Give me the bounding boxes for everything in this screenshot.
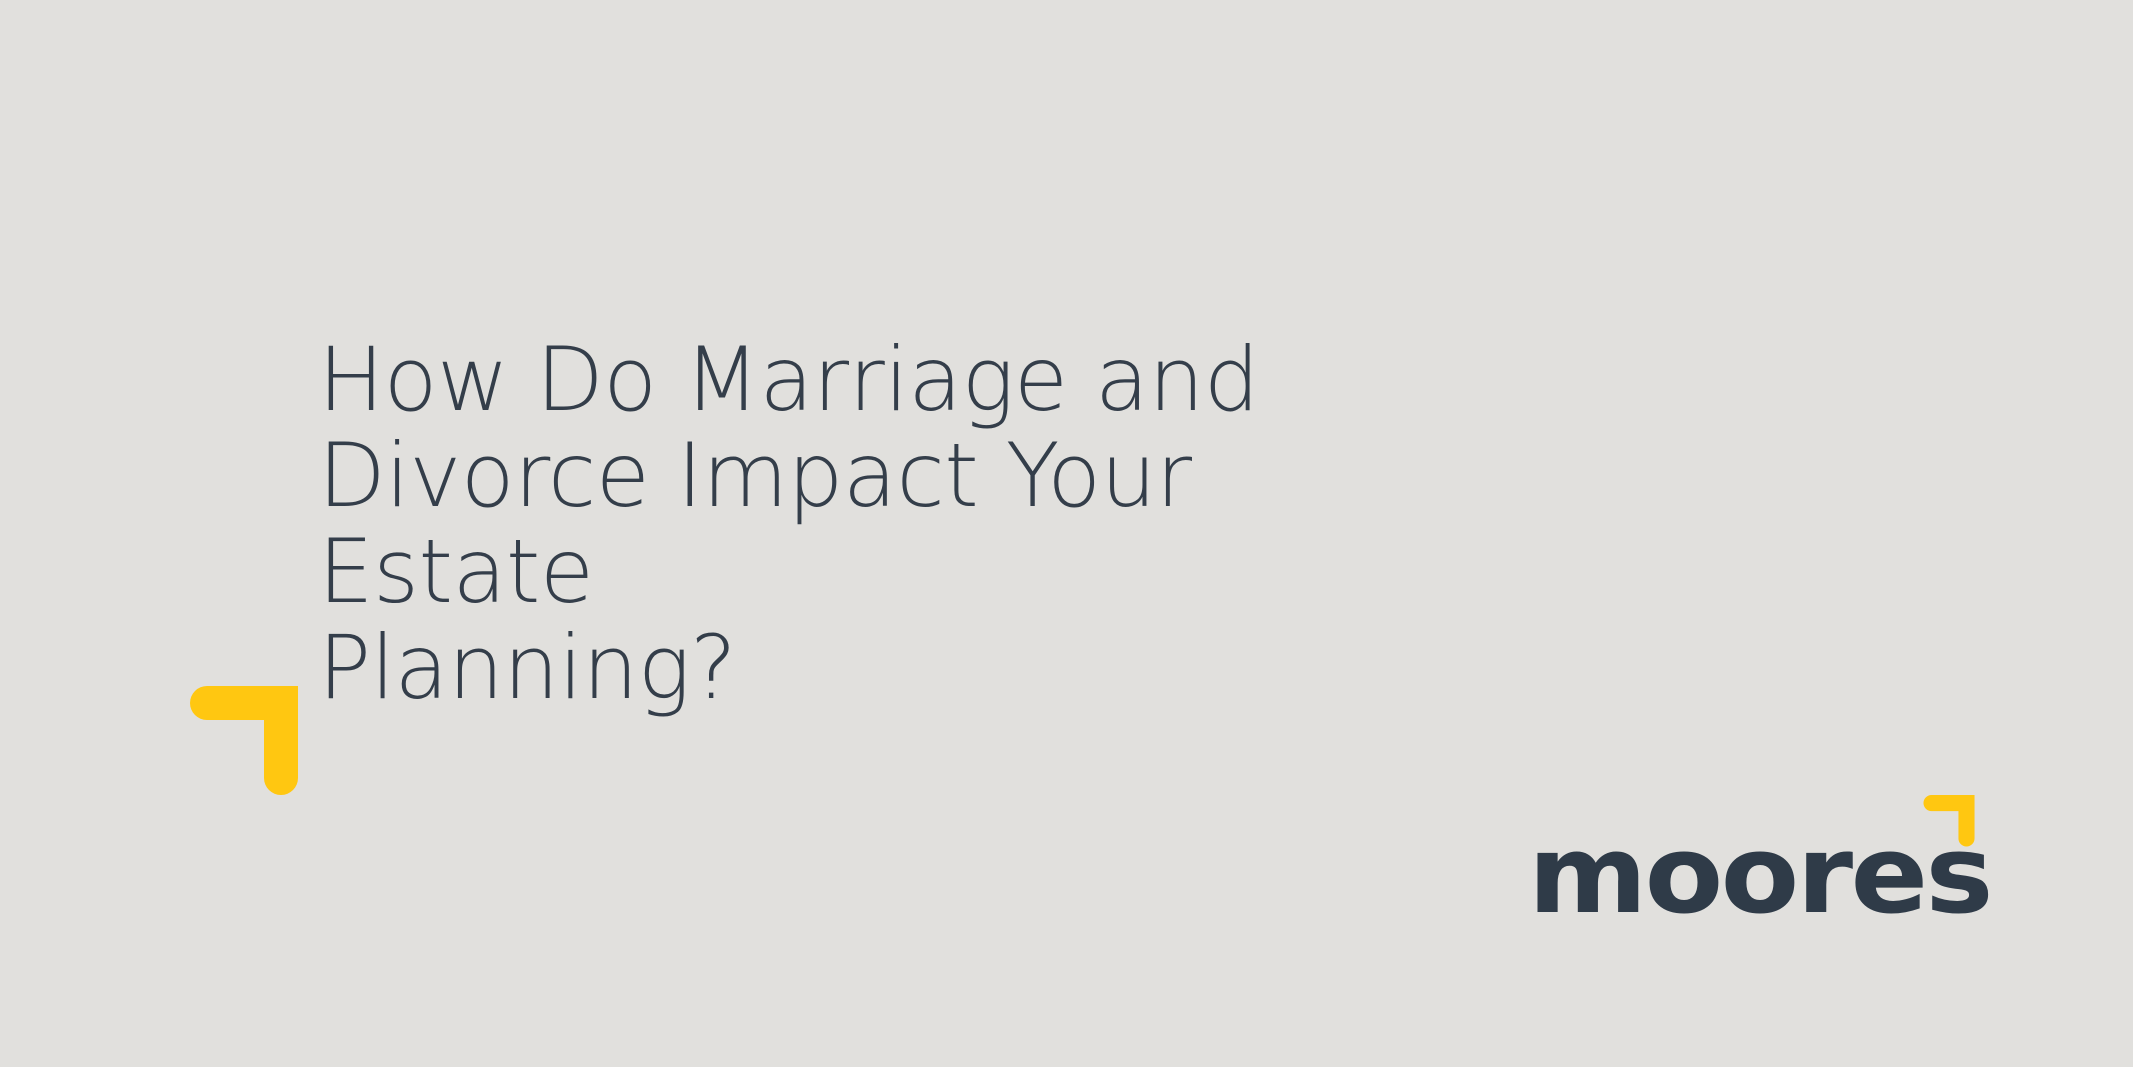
social-card-canvas: How Do Marriage and Divorce Impact Your … (0, 0, 2133, 1067)
corner-bracket-icon (190, 686, 298, 796)
logo[interactable]: moores (1528, 790, 1978, 930)
logo-wordmark: moores (1528, 822, 1991, 930)
page-title: How Do Marriage and Divorce Impact Your … (318, 332, 1438, 716)
logo-corner-bracket-icon (1923, 795, 1975, 847)
